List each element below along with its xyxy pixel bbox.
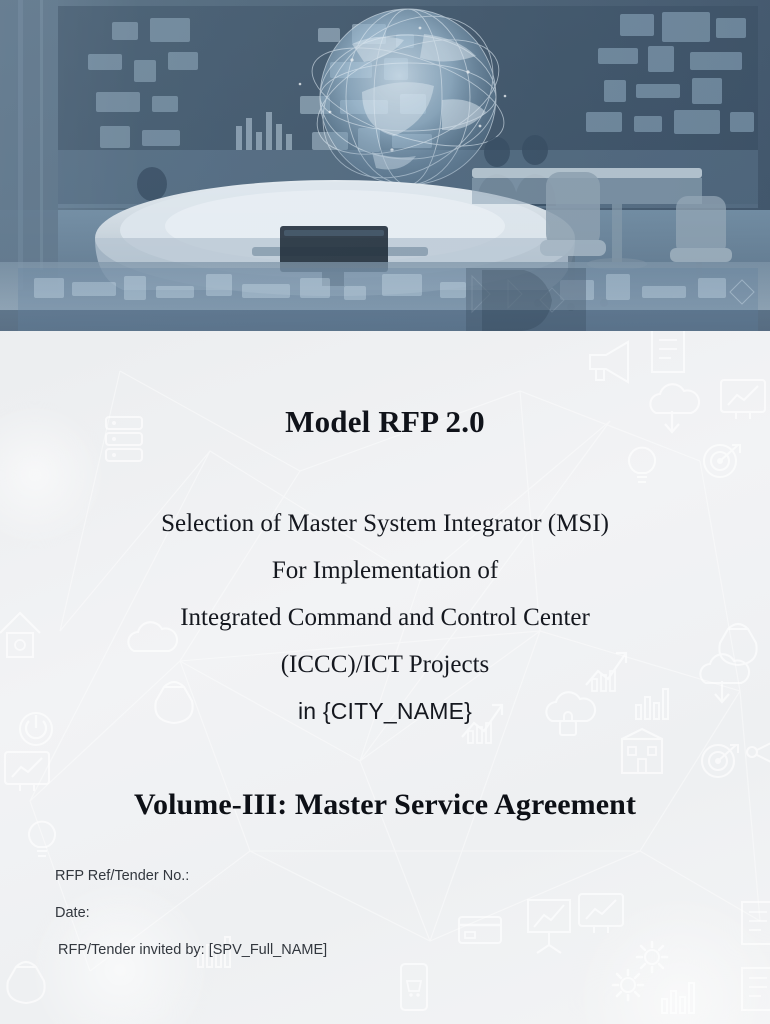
cover-banner-image bbox=[0, 0, 770, 331]
invited-by-label: RFP/Tender invited by: [SPV_Full_NAME] bbox=[0, 942, 770, 958]
subtitle-line-city: in {CITY_NAME} bbox=[0, 688, 770, 735]
rfp-reference-label: RFP Ref/Tender No.: bbox=[0, 868, 770, 884]
subtitle-line-3: Integrated Command and Control Center bbox=[0, 594, 770, 641]
page-title: Model RFP 2.0 bbox=[0, 404, 770, 440]
date-label: Date: bbox=[0, 905, 770, 921]
cover-footer-block: RFP Ref/Tender No.: Date: RFP/Tender inv… bbox=[0, 868, 770, 979]
cover-text-content: Model RFP 2.0 Selection of Master System… bbox=[0, 331, 770, 1024]
subtitle-line-2: For Implementation of bbox=[0, 547, 770, 594]
document-cover-page: Model RFP 2.0 Selection of Master System… bbox=[0, 0, 770, 1024]
subtitle-line-1: Selection of Master System Integrator (M… bbox=[0, 500, 770, 547]
cover-subtitle-block: Selection of Master System Integrator (M… bbox=[0, 500, 770, 735]
volume-title: Volume-III: Master Service Agreement bbox=[0, 788, 770, 822]
subtitle-line-4: (ICCC)/ICT Projects bbox=[0, 641, 770, 688]
